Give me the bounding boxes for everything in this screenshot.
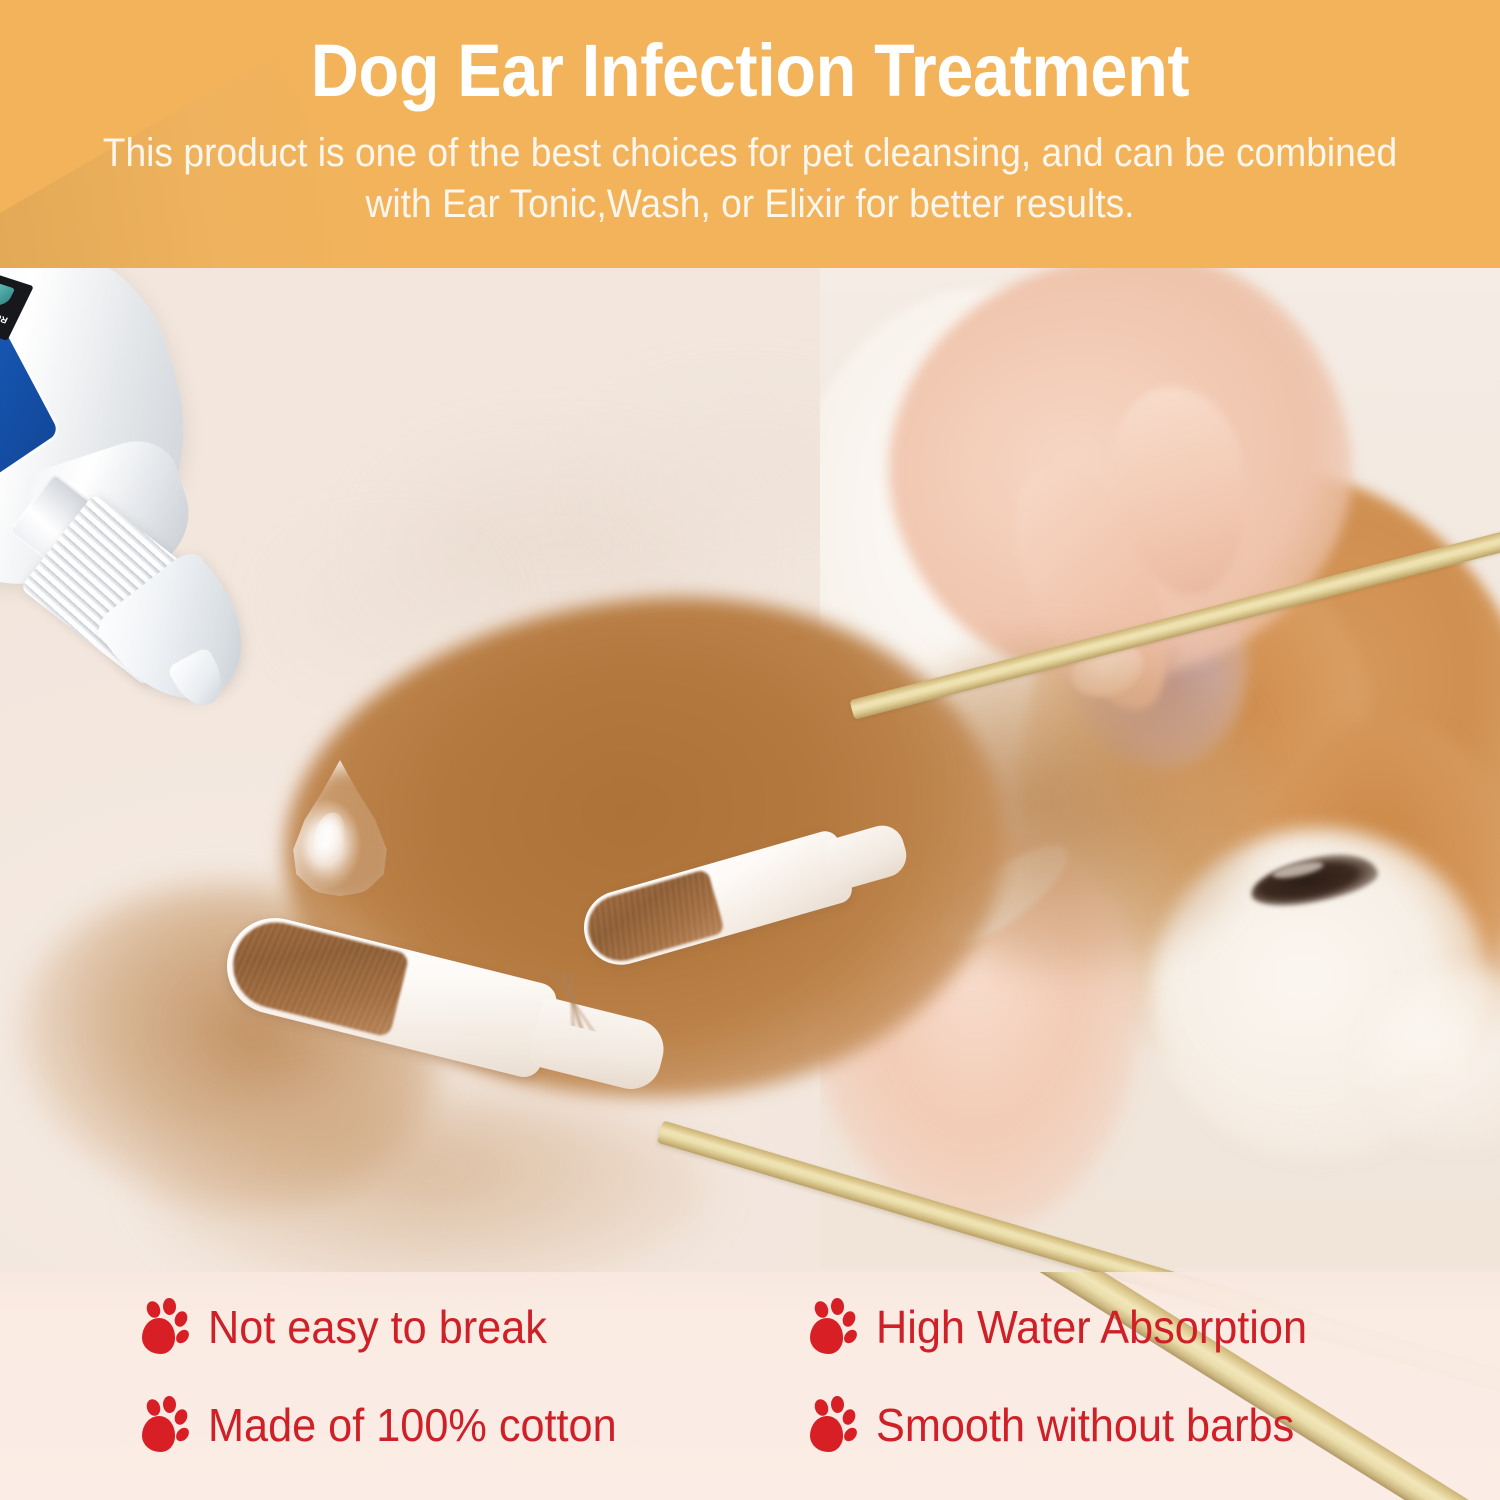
feature-label: Not easy to break — [208, 1304, 547, 1350]
page-subtitle: This product is one of the best choices … — [80, 128, 1419, 230]
header-banner: Dog Ear Infection Treatment This product… — [0, 0, 1500, 268]
paw-icon — [140, 1396, 190, 1454]
swab-wax-residue — [224, 913, 410, 1038]
product-marketing-poster: Recycling Dog Ear Infection Treatment Th… — [0, 0, 1500, 1500]
feature-item: Not easy to break — [140, 1298, 569, 1356]
paw-icon — [140, 1298, 190, 1356]
leaf-icon — [0, 278, 15, 310]
paw-icon — [808, 1396, 858, 1454]
feature-banner: Not easy to break High Water Absorption … — [0, 1272, 1500, 1500]
dropper-bottle: Recycling — [0, 262, 380, 742]
page-title: Dog Ear Infection Treatment — [75, 34, 1425, 108]
feature-item: Smooth without barbs — [808, 1396, 1321, 1454]
feature-item: Made of 100% cotton — [140, 1396, 643, 1454]
feature-label: High Water Absorption — [876, 1304, 1307, 1350]
swab-neck — [822, 820, 911, 891]
paw-icon — [808, 1298, 858, 1356]
feature-label: Made of 100% cotton — [208, 1402, 617, 1448]
recycling-badge-label: Recycling — [0, 303, 9, 326]
feature-label: Smooth without barbs — [876, 1402, 1294, 1448]
feature-list: Not easy to break High Water Absorption … — [0, 1272, 1500, 1500]
feature-item: High Water Absorption — [808, 1298, 1335, 1356]
